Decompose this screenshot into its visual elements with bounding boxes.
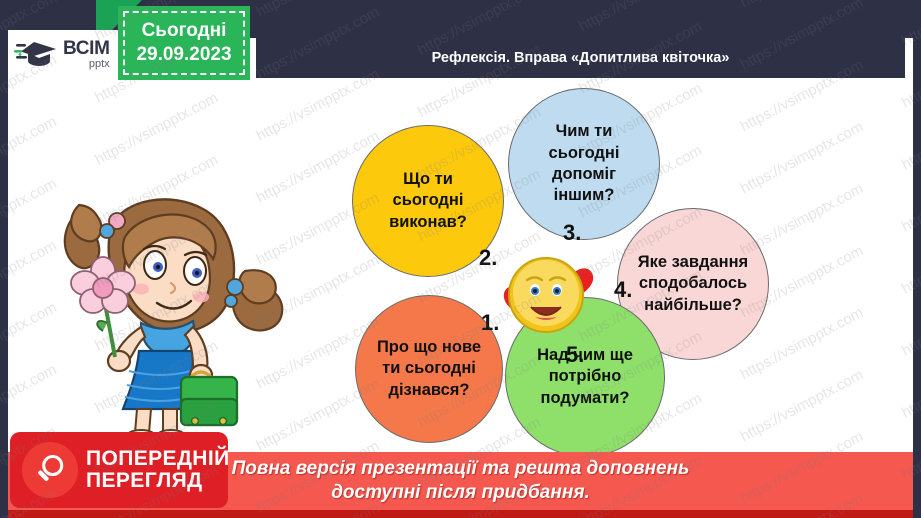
petal-3-line-4: іншим? <box>554 185 615 206</box>
petal-2-line-3: виконав? <box>389 212 467 233</box>
girl-with-flower-and-bag-illustration <box>45 175 295 440</box>
banner-bottom-strip <box>8 510 913 518</box>
petal-4-line-2: сподобалось <box>639 273 747 294</box>
preview-badge-line-2: ПЕРЕГЛЯД <box>86 470 230 492</box>
petal-5-line-3: подумати? <box>541 388 630 409</box>
petal-1-line-3: дізнався? <box>388 380 469 401</box>
preview-badge-line-1: ПОПЕРЕДНІЙ <box>86 448 230 470</box>
petal-3-line-3: допоміг <box>552 164 616 185</box>
date-badge-value: 29.09.2023 <box>136 44 231 66</box>
banner-line-1: Повна версія презентації та решта доповн… <box>232 457 690 481</box>
banner-line-2: доступні після придбання. <box>331 481 590 505</box>
date-badge-label: Сьогодні <box>142 20 227 42</box>
petal-1-line-2: ти сьогодні <box>382 358 476 379</box>
petal-3[interactable]: Чим ти сьогодні допоміг іншим? <box>508 88 660 240</box>
petal-1-line-1: Про що нове <box>377 337 481 358</box>
petal-number-1: 1. <box>481 310 499 336</box>
petal-3-line-1: Чим ти <box>556 121 613 142</box>
petal-5-line-1: Над чим ще <box>537 345 633 366</box>
petal-number-2: 2. <box>479 245 497 271</box>
petal-4-line-1: Яке завдання <box>638 252 748 273</box>
date-badge: Сьогодні 29.09.2023 <box>118 6 250 80</box>
preview-badge[interactable]: ПОПЕРЕДНІЙ ПЕРЕГЛЯД <box>10 432 228 508</box>
petal-number-5: 5. <box>566 342 584 368</box>
petal-number-3: 3. <box>563 220 581 246</box>
presentation-slide: ВСІМ pptx Сьогодні 29.09.2023 Рефлексія.… <box>0 0 921 518</box>
petal-4-line-3: найбільше? <box>644 295 742 316</box>
petal-5-line-2: потрібно <box>549 366 622 387</box>
page-title: Рефлексія. Вправа «Допитлива квіточка» <box>432 50 730 66</box>
petal-2-line-2: сьогодні <box>393 190 464 211</box>
petal-number-4: 4. <box>614 277 632 303</box>
smiling-face-with-hearts-emoji <box>498 247 594 343</box>
magnifier-icon <box>22 442 78 498</box>
slide-title-bar: Рефлексія. Вправа «Допитлива квіточка» <box>256 38 905 78</box>
petal-2-line-1: Що ти <box>403 169 453 190</box>
petal-3-line-2: сьогодні <box>549 143 620 164</box>
